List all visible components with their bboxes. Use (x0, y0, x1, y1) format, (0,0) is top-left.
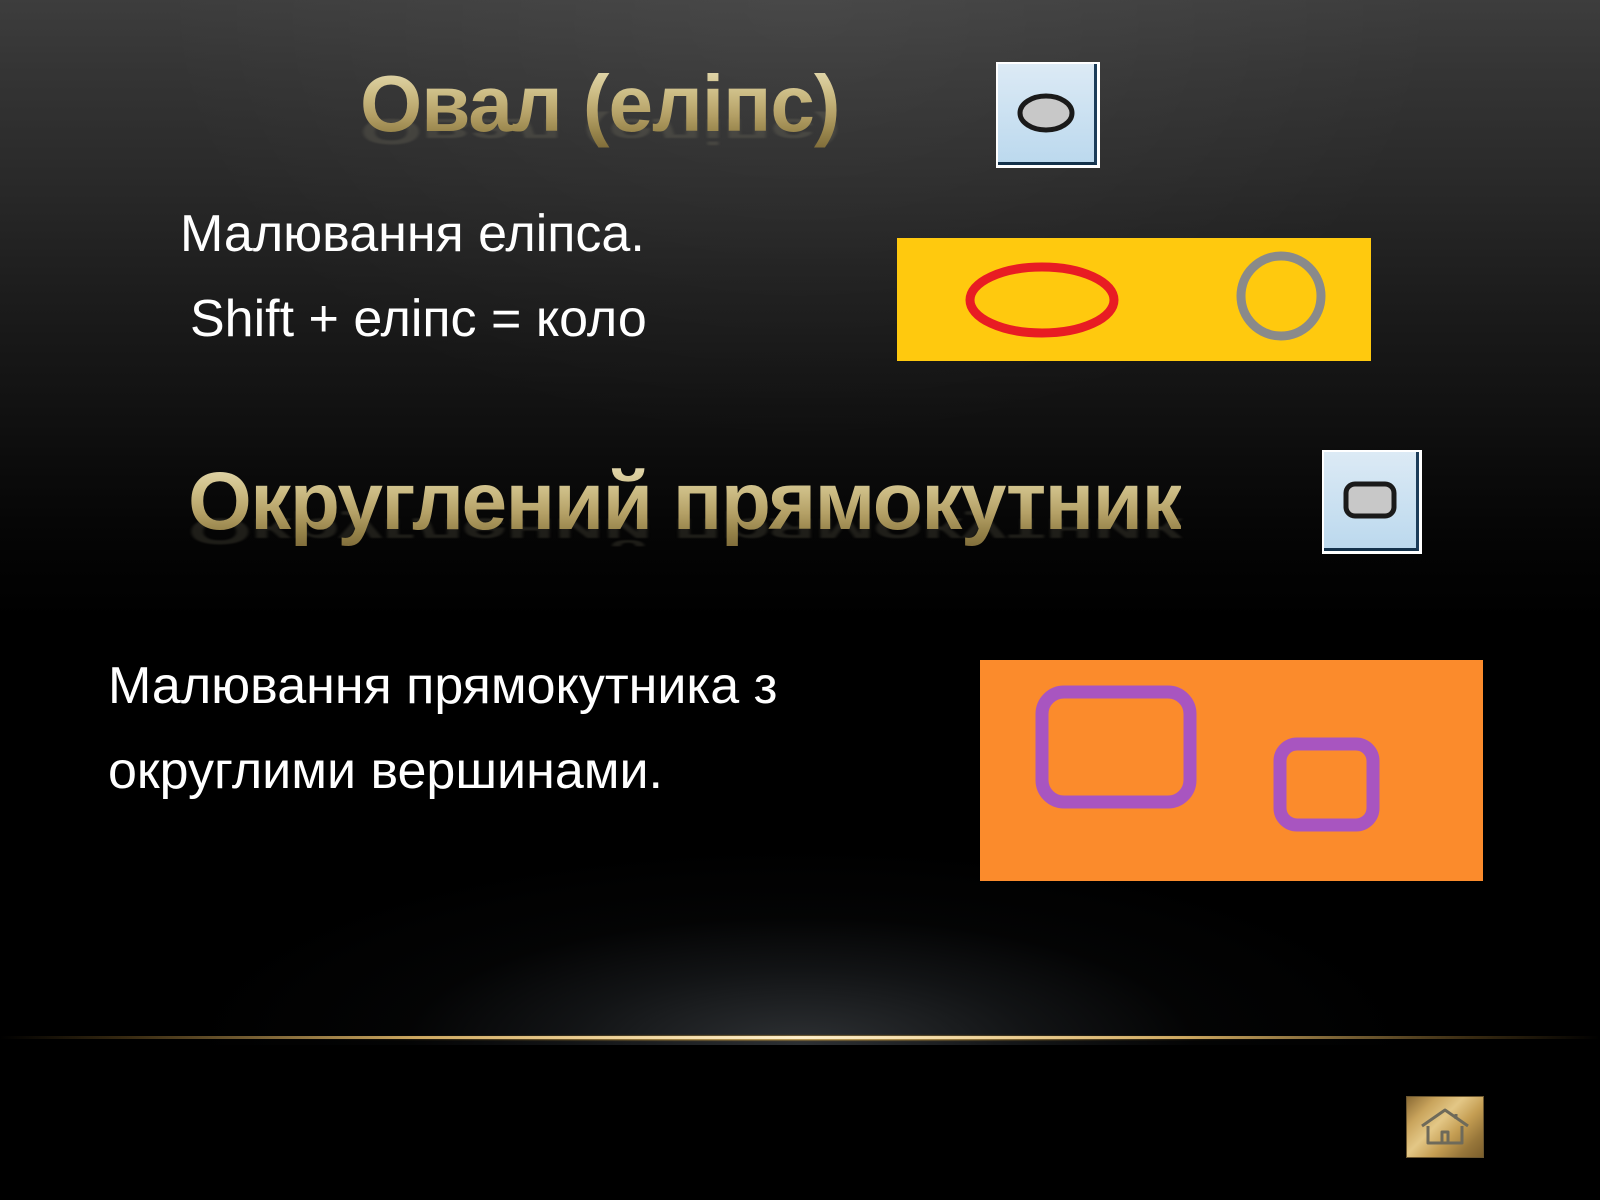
rounded-rect-demo-shapes (980, 660, 1483, 881)
rounded-rect-demo-image (980, 660, 1483, 881)
ellipse-description-line-2: Shift + еліпс = коло (190, 293, 647, 345)
large-rounded-rect-shape (1042, 692, 1190, 802)
accent-divider-line (0, 1036, 1600, 1039)
ellipse-tool-button[interactable] (996, 62, 1100, 168)
ellipse-description-line-1: Малювання еліпса. (180, 208, 645, 260)
ellipse-tool-button-face (998, 64, 1097, 165)
home-icon (1418, 1105, 1472, 1149)
rounded-rect-description-line-2: округлими вершинами. (108, 745, 663, 797)
section-heading-rounded-rect: Округлений прямокутник (188, 455, 1181, 549)
presentation-slide: Овал (еліпс) Овал (еліпс) Малювання еліп… (0, 0, 1600, 1200)
rounded-rectangle-tool-button[interactable] (1322, 450, 1422, 554)
small-rounded-rect-shape (1280, 744, 1373, 825)
home-button[interactable] (1406, 1096, 1484, 1158)
rounded-rect-description-line-1: Малювання прямокутника з (108, 660, 778, 712)
ellipse-demo-shapes (897, 238, 1371, 361)
ellipse-demo-image (897, 238, 1371, 361)
rounded-rectangle-tool-icon (1340, 477, 1400, 523)
ellipse-tool-icon (1015, 90, 1077, 136)
gray-circle-shape (1241, 256, 1321, 336)
rounded-rect-tool-button-face (1324, 452, 1419, 551)
red-ellipse-shape (970, 267, 1114, 333)
footer-area (0, 1048, 1600, 1200)
section-heading-oval: Овал (еліпс) (360, 58, 840, 150)
